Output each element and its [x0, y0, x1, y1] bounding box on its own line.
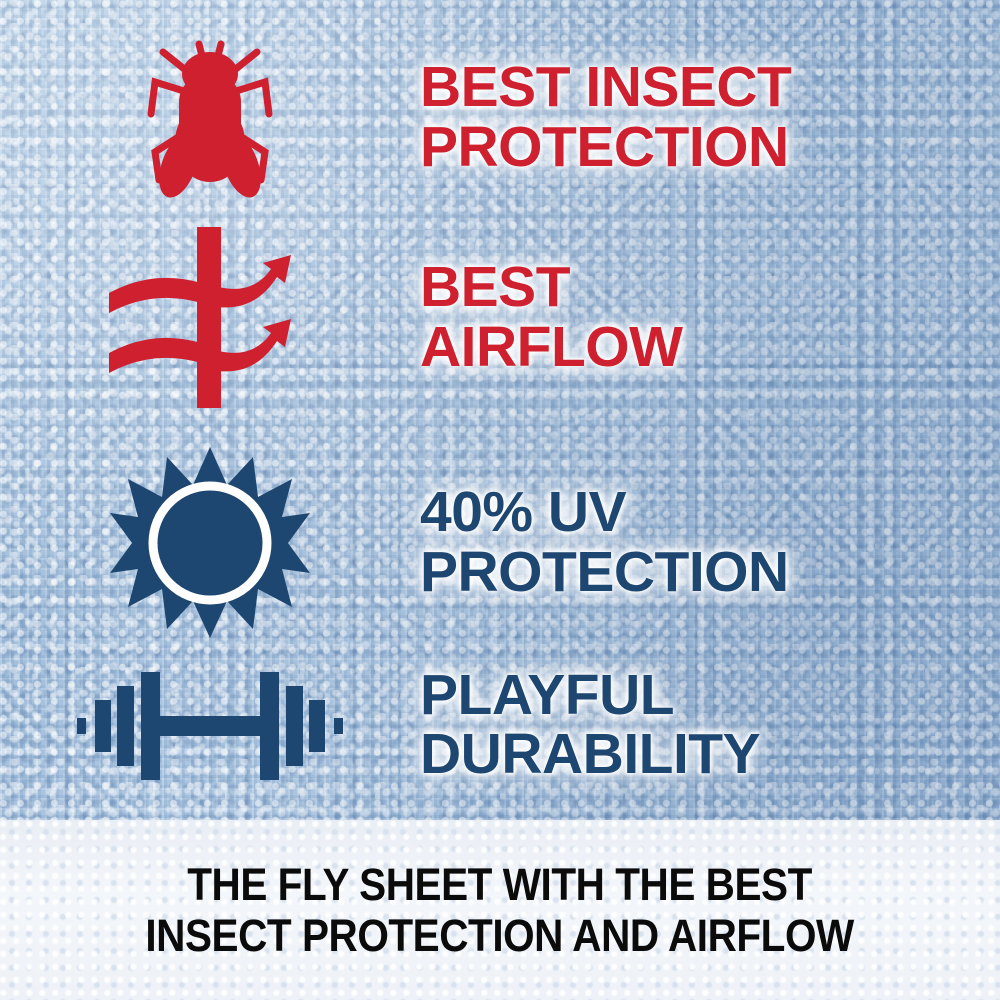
feature-row-uv-protection: 40% UV PROTECTION	[0, 440, 1000, 645]
feature-headline-airflow: BEST AIRFLOW	[420, 258, 1000, 377]
feature-text-cell-insect-protection: BEST INSECT PROTECTION	[420, 58, 1000, 177]
feature-row-insect-protection: BEST INSECT PROTECTION	[0, 30, 1000, 205]
airflow-arrows-icon	[105, 225, 315, 410]
product-feature-poster: BEST INSECT PROTECTION BEST AIRFLOW	[0, 0, 1000, 1000]
caption-band: THE FLY SHEET WITH THE BEST INSECT PROTE…	[0, 820, 1000, 1000]
fly-icon	[135, 30, 285, 205]
feature-icon-cell-durability	[0, 660, 420, 790]
feature-icon-cell-uv-protection	[0, 445, 420, 640]
feature-headline-insect-protection: BEST INSECT PROTECTION	[420, 58, 1000, 177]
feature-text-cell-airflow: BEST AIRFLOW	[420, 258, 1000, 377]
dumbbell-icon	[75, 660, 345, 790]
feature-row-airflow: BEST AIRFLOW	[0, 225, 1000, 410]
feature-headline-uv-protection: 40% UV PROTECTION	[420, 483, 1000, 602]
feature-icon-cell-airflow	[0, 225, 420, 410]
caption-text: THE FLY SHEET WITH THE BEST INSECT PROTE…	[146, 859, 854, 962]
feature-text-cell-uv-protection: 40% UV PROTECTION	[420, 483, 1000, 602]
feature-icon-cell-insect-protection	[0, 30, 420, 205]
feature-headline-durability: PLAYFUL DURABILITY	[420, 666, 1000, 785]
sun-burst-icon	[110, 445, 310, 640]
feature-text-cell-durability: PLAYFUL DURABILITY	[420, 666, 1000, 785]
feature-row-durability: PLAYFUL DURABILITY	[0, 650, 1000, 800]
